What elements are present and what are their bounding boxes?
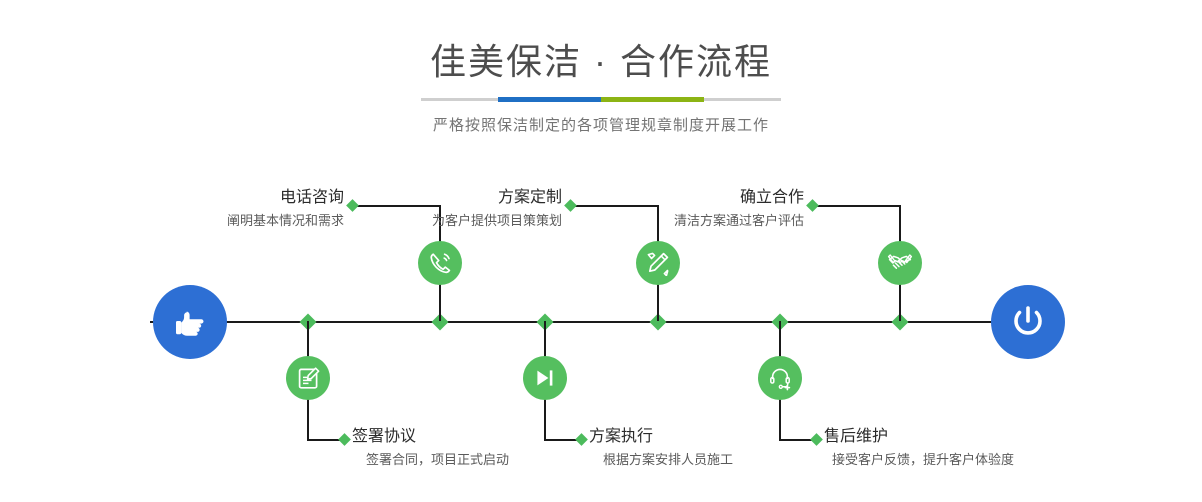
connector-horizontal-5	[812, 205, 900, 207]
timeline-end-node	[991, 285, 1065, 359]
step-label-5: 确立合作 清洁方案通过客户评估	[552, 188, 804, 230]
step-label-3: 方案定制 为客户提供项目策策划	[310, 188, 562, 230]
step-title-3: 方案定制	[310, 188, 562, 208]
step-label-2: 签署协议 签署合同，项目正式启动	[352, 427, 612, 469]
label-tip-2	[338, 433, 351, 446]
handshake-icon	[887, 250, 913, 276]
step-label-4: 方案执行 根据方案安排人员施工	[589, 427, 849, 469]
label-tip-5	[806, 199, 819, 212]
step-desc-1: 阐明基本情况和需求	[92, 212, 344, 230]
divider-segment-green	[601, 97, 704, 102]
step-desc-3: 为客户提供项目策策划	[310, 212, 562, 230]
process-flow-infographic: 佳美保洁 · 合作流程 严格按照保洁制定的各项管理规章制度开展工作	[0, 0, 1202, 502]
step-title-2: 签署协议	[352, 427, 612, 447]
step-desc-4: 根据方案安排人员施工	[603, 451, 849, 469]
step-icon-4	[523, 356, 567, 400]
header: 佳美保洁 · 合作流程 严格按照保洁制定的各项管理规章制度开展工作	[0, 0, 1202, 135]
step-icon-1	[418, 241, 462, 285]
step-icon-2	[286, 356, 330, 400]
step-title-1: 电话咨询	[92, 188, 344, 208]
timeline-start-node	[153, 285, 227, 359]
step-label-1: 电话咨询 阐明基本情况和需求	[92, 188, 344, 230]
step-label-6: 售后维护 接受客户反馈，提升客户体验度	[824, 427, 1104, 469]
step-desc-5: 清洁方案通过客户评估	[552, 212, 804, 230]
divider-segment-blue	[498, 97, 601, 102]
step-desc-6: 接受客户反馈，提升客户体验度	[832, 451, 1104, 469]
step-icon-3	[636, 241, 680, 285]
step-icon-6	[758, 356, 802, 400]
play-execute-icon	[533, 366, 557, 390]
step-title-4: 方案执行	[589, 427, 849, 447]
pencil-ruler-icon	[645, 250, 671, 276]
document-sign-icon	[296, 366, 321, 391]
title-divider	[421, 98, 781, 101]
customer-service-add-icon	[768, 366, 793, 391]
pointing-hand-icon	[170, 302, 210, 342]
step-title-5: 确立合作	[552, 188, 804, 208]
phone-call-icon	[427, 250, 453, 276]
page-title: 佳美保洁 · 合作流程	[0, 40, 1202, 84]
page-subtitle: 严格按照保洁制定的各项管理规章制度开展工作	[0, 114, 1202, 135]
step-icon-5	[878, 241, 922, 285]
step-title-6: 售后维护	[824, 427, 1104, 447]
step-desc-2: 签署合同，项目正式启动	[366, 451, 612, 469]
power-icon	[1007, 301, 1049, 343]
timeline-axis	[150, 321, 1052, 323]
